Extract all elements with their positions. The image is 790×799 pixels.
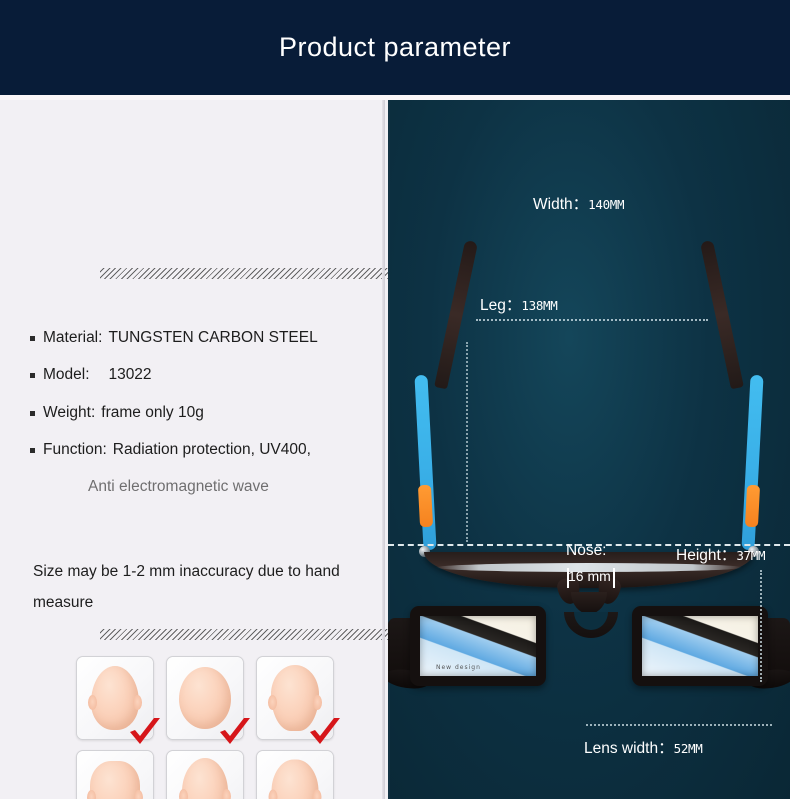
face-shape-card[interactable] [76,656,154,740]
spec-value: TUNGSTEN CARBON STEEL [108,328,317,347]
ear-icon [134,790,143,799]
face-shape-grid [76,656,334,799]
face-shape-card[interactable] [166,750,244,799]
temple-tip-right [700,240,744,389]
temple-accent-left [418,485,433,528]
page-header: Product parameter [0,0,790,95]
face-card-inner [167,751,243,799]
spec-label: Function: [43,440,107,459]
spec-value: frame only 10g [101,403,204,422]
lens-right [632,606,768,686]
face-shape-card[interactable] [256,750,334,799]
nose-callout: Nose: [566,542,607,560]
bullet-icon [30,448,35,453]
product-photo-panel: Width：140MM Leg：138MM New design Nose: 1… [388,100,790,799]
face-card-inner [257,751,333,799]
lens-width-label: Lens width： [584,740,674,757]
check-icon [128,717,162,747]
face-card-inner [77,751,153,799]
ear-icon [133,695,142,710]
measurement-disclaimer: Size may be 1-2 mm inaccuracy due to han… [33,556,363,618]
nose-value-callout: 16 mm [568,568,611,584]
hatch-divider-top [100,268,388,279]
leg-callout: Leg：138MM [480,293,558,315]
width-measure-line [476,319,708,321]
bullet-icon [30,373,35,378]
height-callout: Height：37MM [676,543,765,565]
long-face-icon [182,758,228,799]
check-icon [308,717,342,747]
diamond-face-icon [272,760,319,799]
temple-tip-left [434,240,478,389]
nose-label: Nose: [566,542,607,559]
ear-icon [88,695,97,710]
temple-accent-right [745,485,760,528]
spec-value: Radiation protection, UV400, [113,440,311,459]
width-value: 140MM [588,197,624,212]
ear-icon [222,789,231,799]
spec-value: 13022 [96,365,152,384]
glasses-topview-photo: Width：140MM Leg：138MM [388,100,790,544]
bullet-icon [30,411,35,416]
panel-edge [382,100,385,799]
lens-left [410,606,546,686]
width-callout: Width：140MM [533,192,624,214]
spec-label: Weight: [43,403,95,422]
height-label: Height： [676,547,736,564]
ear-icon [87,790,96,799]
glasses-frontview-photo: New design Nose: 16 mm Height：37MM Lens … [388,546,790,799]
ear-icon [179,789,188,799]
specifications-panel: Material: TUNGSTEN CARBON STEEL Model: 1… [0,100,385,799]
spec-function-continuation: Anti electromagnetic wave [88,478,380,496]
lens-width-value: 52MM [674,741,703,756]
face-shape-card[interactable] [256,656,334,740]
spec-item-function: Function: Radiation protection, UV400, [30,440,380,459]
leg-label: Leg： [480,297,521,314]
height-measure-line [760,570,762,682]
width-label: Width： [533,196,588,213]
spec-item-model: Model: 13022 [30,365,380,384]
ear-icon [313,695,322,710]
bullet-icon [30,336,35,341]
check-icon [218,717,252,747]
lens-width-measure-line [586,724,772,726]
spec-list: Material: TUNGSTEN CARBON STEEL Model: 1… [30,328,380,496]
square-face-icon [90,761,140,799]
leg-measure-line [466,342,468,542]
leg-value: 138MM [521,298,557,313]
spec-label: Material: [43,328,102,347]
face-shape-card[interactable] [76,750,154,799]
spec-label: Model: [43,365,90,384]
lens-engraving: New design [436,664,481,671]
ear-icon [269,789,278,799]
hatch-divider-bottom [100,629,388,640]
height-value: 37MM [736,548,765,563]
spec-item-weight: Weight: frame only 10g [30,403,380,422]
ear-icon [313,789,322,799]
spec-item-material: Material: TUNGSTEN CARBON STEEL [30,328,380,347]
page-title: Product parameter [279,32,511,63]
face-shape-card[interactable] [166,656,244,740]
lens-width-callout: Lens width：52MM [584,736,703,758]
ear-icon [268,695,277,710]
